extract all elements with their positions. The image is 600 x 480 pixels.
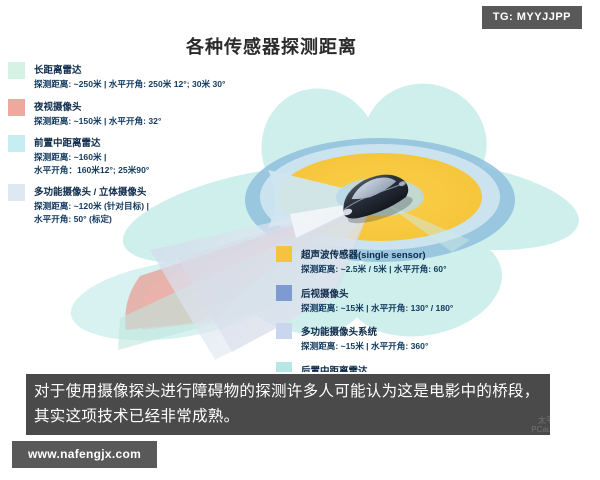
tg-tag-badge: TG: MYYJJPP — [482, 6, 582, 29]
legend-title: 多功能摄像头 / 立体摄像头 — [34, 187, 146, 198]
legend-title: 长距离雷达 — [34, 65, 82, 76]
legend-desc: 探测距离: ~150米 | 水平开角: 32° — [34, 115, 161, 128]
infographic-page: 各种传感器探测距离 TG: MYYJJPP 长距离雷达 探测距离: ~250米 … — [0, 0, 600, 480]
legend-title: 多功能摄像头系统 — [301, 327, 377, 338]
legend-title: 夜视摄像头 — [34, 102, 82, 113]
legend-swatch-multifunction-camera-system — [276, 323, 292, 339]
legend-item: 多功能摄像头 / 立体摄像头 探测距离: ~120米 (针对目标) | 水平开角… — [8, 182, 258, 225]
legend-desc: 探测距离: ~15米 | 水平开角: 130° / 180° — [301, 302, 453, 315]
caption-band: 对于使用摄像探头进行障碍物的探测许多人可能认为这是电影中的桥段，其实这项技术已经… — [24, 372, 552, 437]
legend-swatch-multifunction-camera — [8, 184, 25, 201]
legend-swatch-rear-view-camera — [276, 285, 292, 301]
legend-desc: 探测距离: ~2.5米 / 5米 | 水平开角: 60° — [301, 263, 447, 276]
legend-item: 夜视摄像头 探测距离: ~150米 | 水平开角: 32° — [8, 97, 258, 128]
legend-swatch-ultrasonic-sensor — [276, 246, 292, 262]
legend-left: 长距离雷达 探测距离: ~250米 | 水平开角: 250米 12°; 30米 … — [8, 60, 258, 231]
legend-item: 前置中距离雷达 探测距离: ~160米 | 水平开角：160米12°; 25米9… — [8, 133, 258, 176]
legend-title: 超声波传感器(single sensor) — [301, 250, 426, 261]
legend-item: 长距离雷达 探测距离: ~250米 | 水平开角: 250米 12°; 30米 … — [8, 60, 258, 91]
legend-desc: 探测距离: ~250米 | 水平开角: 250米 12°; 30米 30° — [34, 78, 225, 91]
legend-title: 前置中距离雷达 — [34, 138, 101, 149]
legend-item: 后视摄像头 探测距离: ~15米 | 水平开角: 130° / 180° — [276, 284, 576, 315]
legend-desc: 探测距离: ~160米 | 水平开角：160米12°; 25米90° — [34, 151, 149, 176]
legend-desc: 探测距离: ~15米 | 水平开角: 360° — [301, 340, 428, 353]
legend-item: 多功能摄像头系统 探测距离: ~15米 | 水平开角: 360° — [276, 322, 576, 353]
page-title: 各种传感器探测距离 — [186, 33, 357, 59]
legend-desc: 探测距离: ~120米 (针对目标) | 水平开角: 50° (标定) — [34, 200, 149, 225]
legend-swatch-night-vision-camera — [8, 99, 25, 116]
url-badge: www.nafengjx.com — [12, 441, 157, 468]
legend-swatch-front-mid-range-radar — [8, 135, 25, 152]
legend-item: 超声波传感器(single sensor) 探测距离: ~2.5米 / 5米 |… — [276, 245, 576, 276]
legend-swatch-long-range-radar — [8, 62, 25, 79]
legend-title: 后视摄像头 — [301, 289, 349, 300]
